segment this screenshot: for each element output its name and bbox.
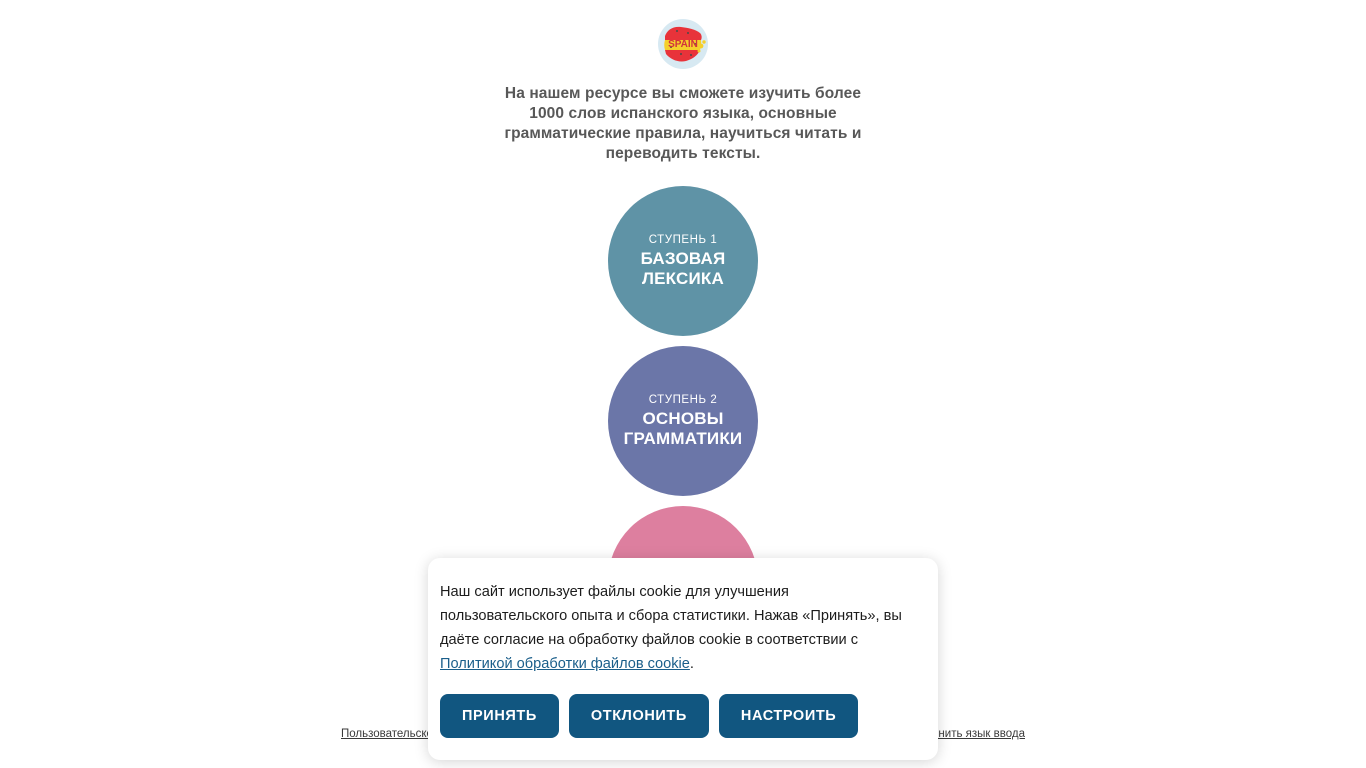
step-2-label: СТУПЕНЬ 2 [649, 393, 718, 407]
page-root: SPAIN На нашем ресурсе вы сможете изучит… [0, 0, 1366, 768]
accept-cookies-button[interactable]: ПРИНЯТЬ [440, 694, 559, 738]
cookie-text-part1: Наш сайт использует файлы cookie для улу… [440, 584, 902, 648]
step-circle-2[interactable]: СТУПЕНЬ 2 ОСНОВЫ ГРАММАТИКИ [608, 346, 758, 496]
step-1-title-line1: БАЗОВАЯ [641, 249, 726, 269]
intro-text: На нашем ресурсе вы сможете изучить боле… [492, 84, 874, 164]
cookie-text-part2: . [690, 656, 694, 672]
step-2-title-line2: ГРАММАТИКИ [624, 429, 743, 449]
decline-cookies-button[interactable]: ОТКЛОНИТЬ [569, 694, 709, 738]
logo-label: SPAIN [668, 39, 698, 50]
step-2-title-line1: ОСНОВЫ [642, 409, 723, 429]
cookie-policy-link[interactable]: Политикой обработки файлов cookie [440, 656, 690, 672]
cookie-button-row: ПРИНЯТЬ ОТКЛОНИТЬ НАСТРОИТЬ [440, 694, 916, 738]
step-1-label: СТУПЕНЬ 1 [649, 233, 718, 247]
site-logo[interactable]: SPAIN [655, 16, 711, 72]
configure-cookies-button[interactable]: НАСТРОИТЬ [719, 694, 858, 738]
step-1-title-line2: ЛЕКСИКА [642, 269, 724, 289]
cookie-consent-dialog: Наш сайт использует файлы cookie для улу… [428, 558, 938, 760]
spain-map-icon: SPAIN [655, 16, 711, 72]
step-circle-1[interactable]: СТУПЕНЬ 1 БАЗОВАЯ ЛЕКСИКА [608, 186, 758, 336]
cookie-consent-text: Наш сайт использует файлы cookie для улу… [440, 580, 916, 676]
